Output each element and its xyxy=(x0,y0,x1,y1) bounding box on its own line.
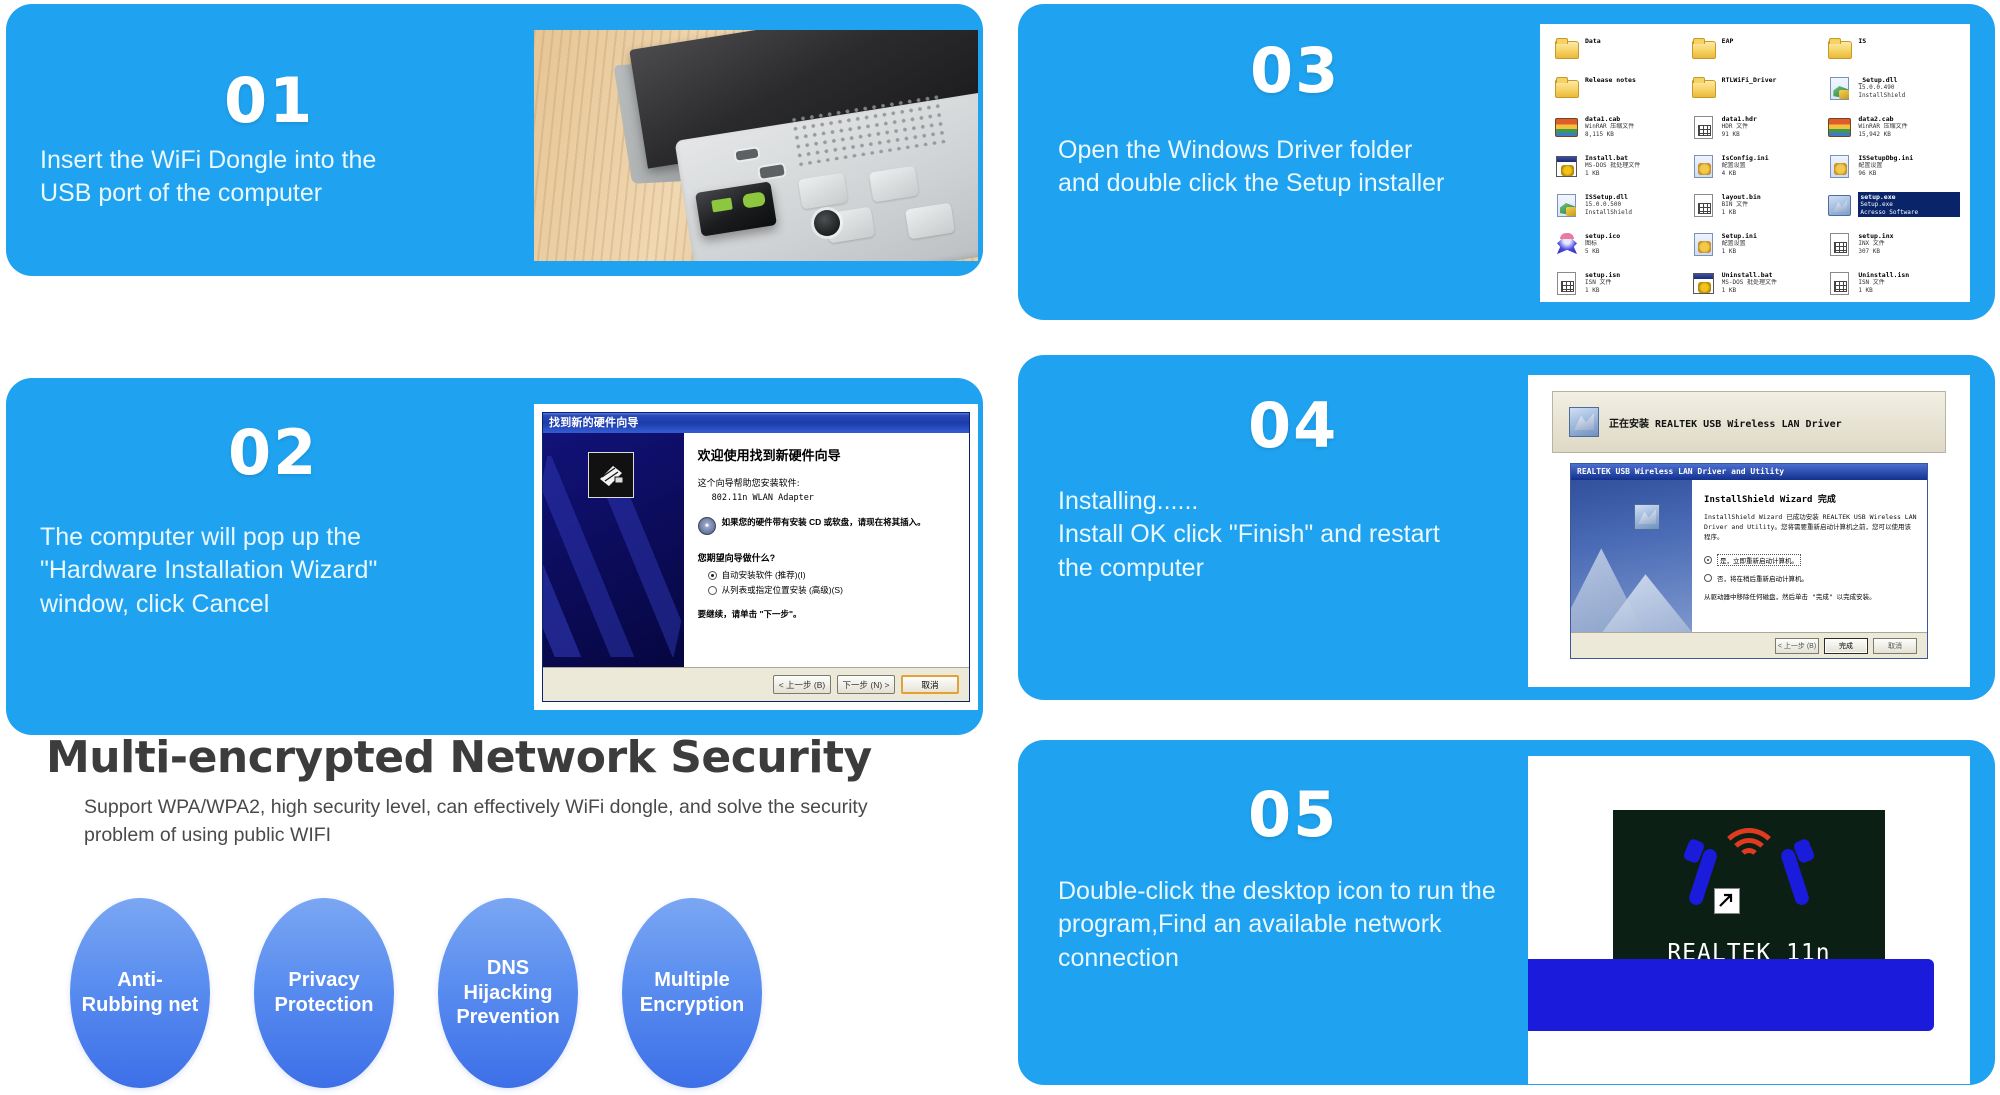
file-name: IS xyxy=(1858,37,1960,45)
file-item[interactable]: layout.binBIN 文件1 KB xyxy=(1691,192,1824,228)
file-item[interactable]: setup.exeSetup.exeAcresso Software xyxy=(1827,192,1960,228)
radio-unselected-icon xyxy=(708,586,717,595)
installshield-title-bar: REALTEK USB Wireless LAN Driver and Util… xyxy=(1571,464,1927,480)
laptop-usb-dongle-photo xyxy=(534,30,978,261)
file-meta-size: 1 KB xyxy=(1585,170,1687,178)
file-text: Uninstall.batMS-DOS 批处理文件1 KB xyxy=(1722,270,1824,294)
cd-disc-icon xyxy=(698,517,716,535)
folder-icon xyxy=(1828,41,1852,59)
installing-progress-bar: 正在安装 REALTEK USB Wireless LAN Driver xyxy=(1552,391,1946,453)
file-meta-type: WinRAR 压缩文件 xyxy=(1858,123,1960,131)
file-icon xyxy=(1554,231,1580,257)
ini-config-icon xyxy=(1830,155,1849,178)
file-name: Data xyxy=(1585,37,1687,45)
file-text: IS xyxy=(1858,36,1960,45)
wizard-intro: 这个向导帮助您安装软件: xyxy=(698,476,957,489)
file-item[interactable]: setup.inxINX 文件307 KB xyxy=(1827,231,1960,267)
file-item[interactable]: Uninstall.isnISN 文件1 KB xyxy=(1827,270,1960,302)
file-name: setup.isn xyxy=(1585,271,1687,279)
installer-screenshots: 正在安装 REALTEK USB Wireless LAN Driver REA… xyxy=(1528,375,1970,687)
file-item[interactable]: data1.cabWinRAR 压缩文件8,115 KB xyxy=(1554,114,1687,150)
file-name: Uninstall.isn xyxy=(1858,271,1960,279)
desktop-icon-screenshot: REALTEK 11n USB Wire... xyxy=(1528,756,1970,1084)
file-meta-size: 8,115 KB xyxy=(1585,131,1687,139)
radio-selected-icon xyxy=(708,571,717,580)
dongle-label-left xyxy=(711,197,733,212)
step-number-01: 01 xyxy=(224,64,314,137)
installshield-option-yes-label: 是，立即重新启动计算机。 xyxy=(1717,554,1801,566)
file-item[interactable]: RTLWiFi_Driver xyxy=(1691,75,1824,111)
file-item[interactable]: Setup.ini配置设置1 KB xyxy=(1691,231,1824,267)
wifi-signal-arcs xyxy=(1714,828,1784,870)
folder-icon xyxy=(1555,80,1579,98)
installshield-back-button[interactable]: < 上一步 (B) xyxy=(1775,638,1819,654)
file-icon xyxy=(1827,153,1853,179)
feature-bubble-anti-rubbing: Anti- Rubbing net xyxy=(70,898,210,1088)
file-meta-size: 91 KB xyxy=(1722,131,1824,139)
file-text: Data xyxy=(1585,36,1687,45)
file-text: Setup.ini配置设置1 KB xyxy=(1722,231,1824,255)
folder-icon xyxy=(1692,80,1716,98)
file-name: setup.ico xyxy=(1585,232,1687,240)
file-item[interactable]: data1.hdrHDR 文件91 KB xyxy=(1691,114,1824,150)
realtek-installer-icon xyxy=(1569,407,1599,437)
realtek-desktop-icon[interactable]: REALTEK 11n USB Wire... xyxy=(1613,810,1885,1030)
audio-jack xyxy=(814,210,840,236)
file-icon xyxy=(1691,192,1717,218)
file-icon xyxy=(1827,192,1853,218)
installshield-option-yes[interactable]: 是，立即重新启动计算机。 xyxy=(1704,554,1917,566)
file-text: EAP xyxy=(1722,36,1824,45)
wizard-option-auto[interactable]: 自动安装软件 (推荐)(I) xyxy=(708,569,957,581)
step-card-04: 04 Installing...... Install OK click "Fi… xyxy=(1018,355,1995,700)
chip-glyph xyxy=(593,457,629,493)
installing-progress-label: 正在安装 REALTEK USB Wireless LAN Driver xyxy=(1609,415,1842,430)
step-03-screenshot: DataEAPISRelease notesRTLWiFi_Driver_Set… xyxy=(1540,24,1970,302)
installshield-wizard-window: REALTEK USB Wireless LAN Driver and Util… xyxy=(1570,463,1928,659)
file-meta-size: 96 KB xyxy=(1858,170,1960,178)
file-icon xyxy=(1827,270,1853,296)
file-name: setup.exe xyxy=(1860,193,1958,201)
sidebar-icon-glyph xyxy=(1638,509,1656,524)
windows-explorer-window: DataEAPISRelease notesRTLWiFi_Driver_Set… xyxy=(1540,24,1970,302)
security-subtitle: Support WPA/WPA2, high security level, c… xyxy=(84,794,914,849)
wizard-sidebar xyxy=(543,433,684,667)
file-name: Install.bat xyxy=(1585,154,1687,162)
installshield-option-no[interactable]: 否，将在稍后重新启动计算机。 xyxy=(1704,573,1917,583)
file-text: ISSetup.dll15.0.0.500InstallShield xyxy=(1585,192,1687,216)
file-text: _Setup.dll15.0.0.490InstallShield xyxy=(1858,75,1960,99)
file-text: layout.binBIN 文件1 KB xyxy=(1722,192,1824,216)
file-meta-size: 4 KB xyxy=(1722,170,1824,178)
file-icon xyxy=(1827,114,1853,140)
step-card-01: 01 Insert the WiFi Dongle into the USB p… xyxy=(6,4,983,276)
binary-file-icon xyxy=(1694,194,1713,217)
step-text-01: Insert the WiFi Dongle into the USB port… xyxy=(40,144,410,211)
file-icon xyxy=(1827,75,1853,101)
file-meta-type: MS-DOS 批处理文件 xyxy=(1585,162,1687,170)
file-meta-size: Acresso Software xyxy=(1860,209,1958,217)
installshield-main: InstallShield Wizard 完成 InstallShield Wi… xyxy=(1571,480,1927,632)
file-item[interactable]: setup.ico图标5 KB xyxy=(1554,231,1687,267)
ini-config-icon xyxy=(1694,155,1713,178)
file-meta-type: ISN 文件 xyxy=(1858,279,1960,287)
file-meta-type: 图标 xyxy=(1585,240,1687,248)
file-text: data2.cabWinRAR 压缩文件15,942 KB xyxy=(1858,114,1960,138)
step-text-05: Double-click the desktop icon to run the… xyxy=(1058,875,1498,975)
file-meta-type: Setup.exe xyxy=(1860,201,1958,209)
installshield-footer: < 上一步 (B) 完成 取消 xyxy=(1571,632,1927,658)
file-meta-size: 1 KB xyxy=(1585,287,1687,295)
infographic-root: 01 Insert the WiFi Dongle into the USB p… xyxy=(0,0,2000,1095)
wizard-heading: 欢迎使用找到新硬件向导 xyxy=(698,445,957,464)
ini-config-icon xyxy=(1694,233,1713,256)
file-meta-size: 15,942 KB xyxy=(1858,131,1960,139)
step-card-03: 03 Open the Windows Driver folder and do… xyxy=(1018,4,1995,320)
file-text: Install.batMS-DOS 批处理文件1 KB xyxy=(1585,153,1687,177)
wizard-cancel-button[interactable]: 取消 xyxy=(901,675,959,694)
file-icon xyxy=(1691,75,1717,101)
file-text: data1.hdrHDR 文件91 KB xyxy=(1722,114,1824,138)
file-text: setup.exeSetup.exeAcresso Software xyxy=(1858,192,1960,217)
radio-unselected-icon xyxy=(1704,574,1712,582)
file-name: ISSetup.dll xyxy=(1585,193,1687,201)
feature-bubble-multiple-encryption: Multiple Encryption xyxy=(622,898,762,1088)
step-text-02: The computer will pop up the "Hardware I… xyxy=(40,521,460,621)
cab-archive-icon xyxy=(1555,118,1578,137)
step-number-03: 03 xyxy=(1250,34,1340,107)
file-icon xyxy=(1554,153,1580,179)
file-meta-type: WinRAR 压缩文件 xyxy=(1585,123,1687,131)
step-01-photo xyxy=(534,30,978,261)
file-meta-type: INX 文件 xyxy=(1858,240,1960,248)
step-card-05: 05 Double-click the desktop icon to run … xyxy=(1018,740,1995,1085)
step-number-05: 05 xyxy=(1248,778,1338,851)
file-meta-size: 1 KB xyxy=(1722,248,1824,256)
wizard-device-name: 802.11n WLAN Adapter xyxy=(712,493,957,503)
file-name: EAP xyxy=(1722,37,1824,45)
file-name: setup.inx xyxy=(1858,232,1960,240)
step-02-screenshot: 找到新的硬件向导 欢迎使用找到新硬件向导 xyxy=(534,404,978,710)
file-meta-type: 配置设置 xyxy=(1722,240,1824,248)
file-item[interactable]: ISSetup.dll15.0.0.500InstallShield xyxy=(1554,192,1687,228)
cab-archive-icon xyxy=(1828,118,1851,137)
file-text: Release notes xyxy=(1585,75,1687,84)
file-meta-size: 307 KB xyxy=(1858,248,1960,256)
folder-icon xyxy=(1555,41,1579,59)
installshield-heading: InstallShield Wizard 完成 xyxy=(1704,492,1917,505)
file-item[interactable]: ISSetupDbg.ini配置设置96 KB xyxy=(1827,153,1960,189)
file-icon xyxy=(1691,114,1717,140)
file-text: setup.inxINX 文件307 KB xyxy=(1858,231,1960,255)
wizard-next-button[interactable]: 下一步 (N) > xyxy=(837,675,895,694)
wifi-arc-inner xyxy=(1738,848,1760,870)
installshield-sidebar xyxy=(1571,480,1692,632)
wizard-option-manual-label: 从列表或指定位置安装 (高级)(S) xyxy=(722,584,843,596)
binary-file-icon xyxy=(1830,272,1849,295)
binary-file-icon xyxy=(1557,272,1576,295)
binary-file-icon xyxy=(1830,233,1849,256)
file-icon xyxy=(1827,231,1853,257)
wizard-cd-note: 如果您的硬件带有安装 CD 或软盘，请现在将其插入。 xyxy=(698,517,957,535)
hardware-chip-icon xyxy=(588,452,634,498)
file-icon xyxy=(1554,114,1580,140)
step-text-03: Open the Windows Driver folder and doubl… xyxy=(1058,134,1458,201)
batch-file-icon xyxy=(1693,273,1714,294)
file-name: Setup.ini xyxy=(1722,232,1824,240)
dll-file-icon xyxy=(1557,194,1576,217)
file-name: data1.cab xyxy=(1585,115,1687,123)
file-text: data1.cabWinRAR 压缩文件8,115 KB xyxy=(1585,114,1687,138)
file-item[interactable]: IS xyxy=(1827,36,1960,72)
file-name: data2.cab xyxy=(1858,115,1960,123)
installshield-body: InstallShield Wizard 完成 InstallShield Wi… xyxy=(1692,480,1927,632)
installshield-cancel-button[interactable]: 取消 xyxy=(1873,638,1917,654)
wizard-question: 您期望向导做什么? xyxy=(698,551,957,564)
file-name: ISSetupDbg.ini xyxy=(1858,154,1960,162)
file-meta-size: 1 KB xyxy=(1722,287,1824,295)
file-text: RTLWiFi_Driver xyxy=(1722,75,1824,84)
file-text: setup.ico图标5 KB xyxy=(1585,231,1687,255)
file-meta-size: 1 KB xyxy=(1858,287,1960,295)
feature-bubble-privacy: Privacy Protection xyxy=(254,898,394,1088)
step-number-02: 02 xyxy=(228,416,318,489)
file-icon xyxy=(1691,36,1717,62)
file-item[interactable]: Uninstall.batMS-DOS 批处理文件1 KB xyxy=(1691,270,1824,302)
wizard-tail: 要继续，请单击 "下一步"。 xyxy=(698,608,957,620)
file-meta-type: MS-DOS 批处理文件 xyxy=(1722,279,1824,287)
file-item[interactable]: IsConfig.ini配置设置4 KB xyxy=(1691,153,1824,189)
file-name: data1.hdr xyxy=(1722,115,1824,123)
file-icon xyxy=(1691,153,1717,179)
file-text: IsConfig.ini配置设置4 KB xyxy=(1722,153,1824,177)
wizard-option-auto-label: 自动安装软件 (推荐)(I) xyxy=(722,569,806,581)
radio-selected-icon xyxy=(1704,556,1712,564)
setup-exe-icon xyxy=(1828,195,1851,216)
shortcut-arrow-overlay xyxy=(1714,888,1740,914)
file-meta-type: HDR 文件 xyxy=(1722,123,1824,131)
wizard-option-manual[interactable]: 从列表或指定位置安装 (高级)(S) xyxy=(708,584,957,596)
file-meta-size: InstallShield xyxy=(1858,92,1960,100)
file-item[interactable]: Data xyxy=(1554,36,1687,72)
feature-bubble-dns-hijacking: DNS Hijacking Prevention xyxy=(438,898,578,1088)
step-05-screenshot: REALTEK 11n USB Wire... xyxy=(1528,756,1970,1084)
file-icon xyxy=(1691,270,1717,296)
figure-body xyxy=(1528,959,1934,1031)
binary-file-icon xyxy=(1694,116,1713,139)
installshield-body-text: InstallShield Wizard 已成功安装 REALTEK USB W… xyxy=(1704,513,1917,542)
file-item[interactable]: EAP xyxy=(1691,36,1824,72)
installshield-finish-button[interactable]: 完成 xyxy=(1824,638,1868,654)
file-meta-type: BIN 文件 xyxy=(1722,201,1824,209)
wizard-back-button[interactable]: < 上一步 (B) xyxy=(773,675,831,694)
file-icon xyxy=(1691,231,1717,257)
security-title: Multi-encrypted Network Security xyxy=(46,732,946,783)
wizard-footer: < 上一步 (B) 下一步 (N) > 取消 xyxy=(543,667,969,701)
file-text: Uninstall.isnISN 文件1 KB xyxy=(1858,270,1960,294)
security-section: Multi-encrypted Network Security Support… xyxy=(0,736,983,1095)
file-icon xyxy=(1554,36,1580,62)
wizard-body: 欢迎使用找到新硬件向导 这个向导帮助您安装软件: 802.11n WLAN Ad… xyxy=(684,433,969,667)
file-meta-type: 15.0.0.490 xyxy=(1858,84,1960,92)
file-meta-type: 15.0.0.500 xyxy=(1585,201,1687,209)
file-name: _Setup.dll xyxy=(1858,76,1960,84)
security-feature-bubbles: Anti- Rubbing net Privacy Protection DNS… xyxy=(70,898,770,1088)
wizard-note-text: 如果您的硬件带有安装 CD 或软盘，请现在将其插入。 xyxy=(722,517,926,528)
file-name: Release notes xyxy=(1585,76,1687,84)
file-name: RTLWiFi_Driver xyxy=(1722,76,1824,84)
wizard-main: 欢迎使用找到新硬件向导 这个向导帮助您安装软件: 802.11n WLAN Ad… xyxy=(543,433,969,667)
step-04-screenshot: 正在安装 REALTEK USB Wireless LAN Driver REA… xyxy=(1528,375,1970,687)
file-icon xyxy=(1554,75,1580,101)
installshield-option-no-label: 否，将在稍后重新启动计算机。 xyxy=(1717,573,1808,583)
file-item[interactable]: Release notes xyxy=(1554,75,1687,111)
file-meta-size: 1 KB xyxy=(1722,209,1824,217)
wizard-title-bar: 找到新的硬件向导 xyxy=(543,413,969,433)
file-icon xyxy=(1554,270,1580,296)
file-name: Uninstall.bat xyxy=(1722,271,1824,279)
file-meta-size: 5 KB xyxy=(1585,248,1687,256)
file-icon xyxy=(1827,36,1853,62)
batch-file-icon xyxy=(1556,156,1577,177)
file-name: layout.bin xyxy=(1722,193,1824,201)
installshield-sidebar-icon xyxy=(1634,504,1660,530)
icon-file-icon xyxy=(1555,233,1579,256)
file-name: IsConfig.ini xyxy=(1722,154,1824,162)
folder-icon xyxy=(1692,41,1716,59)
file-meta-type: 配置设置 xyxy=(1858,162,1960,170)
step-card-02: 02 The computer will pop up the "Hardwar… xyxy=(6,378,983,735)
installshield-tail: 从驱动器中移除任何磁盘，然后单击 "完成" 以完成安装。 xyxy=(1704,593,1917,603)
wifi-figure-icon xyxy=(1674,824,1824,932)
file-text: setup.isnISN 文件1 KB xyxy=(1585,270,1687,294)
shortcut-arrow-glyph xyxy=(1715,889,1737,911)
file-meta-size: InstallShield xyxy=(1585,209,1687,217)
file-item[interactable]: Install.batMS-DOS 批处理文件1 KB xyxy=(1554,153,1687,189)
found-new-hardware-wizard-window: 找到新的硬件向导 欢迎使用找到新硬件向导 xyxy=(542,412,970,702)
file-list: DataEAPISRelease notesRTLWiFi_Driver_Set… xyxy=(1554,36,1960,302)
file-item[interactable]: setup.isnISN 文件1 KB xyxy=(1554,270,1687,302)
file-icon xyxy=(1554,192,1580,218)
file-meta-type: 配置设置 xyxy=(1722,162,1824,170)
dll-file-icon xyxy=(1830,77,1849,100)
file-item[interactable]: data2.cabWinRAR 压缩文件15,942 KB xyxy=(1827,114,1960,150)
installer-icon-glyph xyxy=(1574,413,1594,430)
step-number-04: 04 xyxy=(1248,389,1338,462)
step-text-04: Installing...... Install OK click "Finis… xyxy=(1058,485,1478,585)
file-text: ISSetupDbg.ini配置设置96 KB xyxy=(1858,153,1960,177)
file-item[interactable]: _Setup.dll15.0.0.490InstallShield xyxy=(1827,75,1960,111)
file-meta-type: ISN 文件 xyxy=(1585,279,1687,287)
